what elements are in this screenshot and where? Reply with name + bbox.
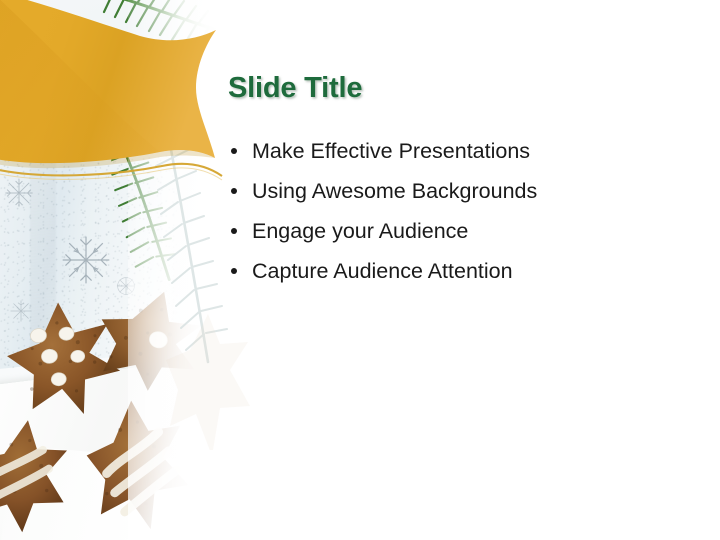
- list-item[interactable]: Using Awesome Backgrounds: [228, 171, 658, 211]
- list-item[interactable]: Make Effective Presentations: [228, 131, 658, 171]
- christmas-gingerbread-photo: [0, 0, 218, 540]
- list-item[interactable]: Engage your Audience: [228, 211, 658, 251]
- list-item-label: Make Effective Presentations: [252, 139, 530, 163]
- bullet-dot-icon: [231, 228, 237, 234]
- bullet-dot-icon: [231, 268, 237, 274]
- bullet-dot-icon: [231, 188, 237, 194]
- list-item-label: Engage your Audience: [252, 219, 468, 243]
- page-title[interactable]: Slide Title: [228, 72, 362, 105]
- list-item-label: Capture Audience Attention: [252, 259, 513, 283]
- bullet-dot-icon: [231, 148, 237, 154]
- list-item[interactable]: Capture Audience Attention: [228, 251, 658, 291]
- list-item-label: Using Awesome Backgrounds: [252, 179, 537, 203]
- slide-canvas: Slide Title Make Effective Presentations…: [0, 0, 720, 540]
- photo-fade-overlay: [0, 0, 218, 540]
- bullet-list[interactable]: Make Effective Presentations Using Aweso…: [228, 131, 658, 291]
